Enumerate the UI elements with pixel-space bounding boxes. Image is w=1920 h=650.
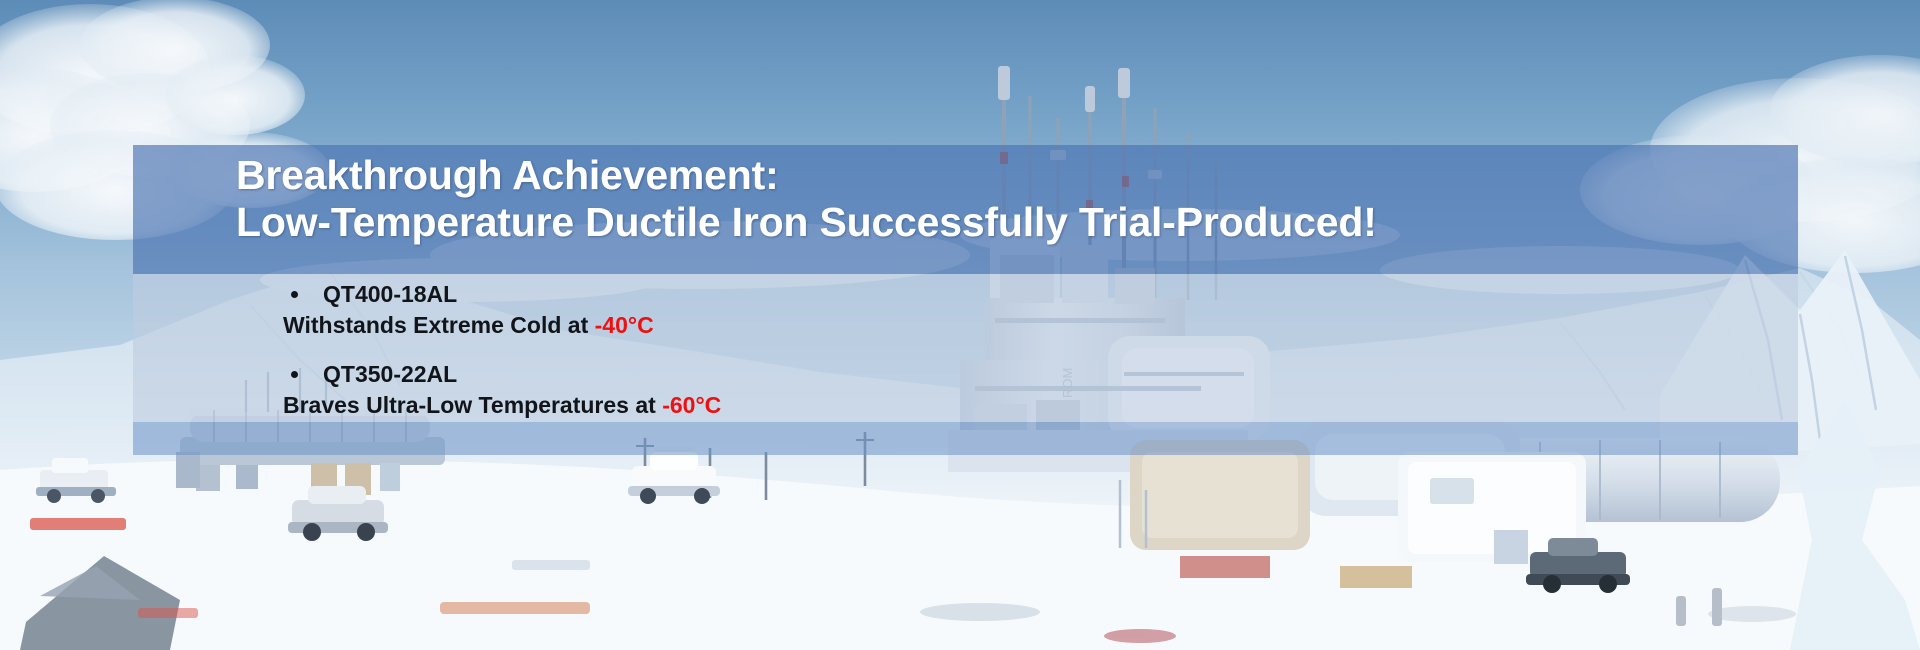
headline-block: Breakthrough Achievement: Low-Temperatur… <box>236 152 1796 246</box>
feature-item: QT350-22AL Braves Ultra-Low Temperatures… <box>283 360 1683 420</box>
bullet-dot-icon <box>291 371 298 378</box>
feature-grade-label: QT400-18AL <box>323 280 457 308</box>
feature-item: QT400-18AL Withstands Extreme Cold at -4… <box>283 280 1683 340</box>
feature-grade-label: QT350-22AL <box>323 360 457 388</box>
promo-banner: ROM <box>0 0 1920 650</box>
feature-description: Braves Ultra-Low Temperatures at -60°C <box>283 390 1683 420</box>
feature-description-text: Withstands Extreme Cold at <box>283 312 595 338</box>
feature-grade-row: QT400-18AL <box>291 280 1683 308</box>
feature-temperature-value: -40°C <box>595 312 654 338</box>
headline-line-2: Low-Temperature Ductile Iron Successfull… <box>236 199 1796 246</box>
feature-description: Withstands Extreme Cold at -40°C <box>283 310 1683 340</box>
feature-list: QT400-18AL Withstands Extreme Cold at -4… <box>283 280 1683 420</box>
feature-description-text: Braves Ultra-Low Temperatures at <box>283 392 662 418</box>
content-overlay-panel: Breakthrough Achievement: Low-Temperatur… <box>133 145 1798 455</box>
feature-grade-row: QT350-22AL <box>291 360 1683 388</box>
headline-line-1: Breakthrough Achievement: <box>236 152 1796 199</box>
bullet-dot-icon <box>291 291 298 298</box>
feature-temperature-value: -60°C <box>662 392 721 418</box>
